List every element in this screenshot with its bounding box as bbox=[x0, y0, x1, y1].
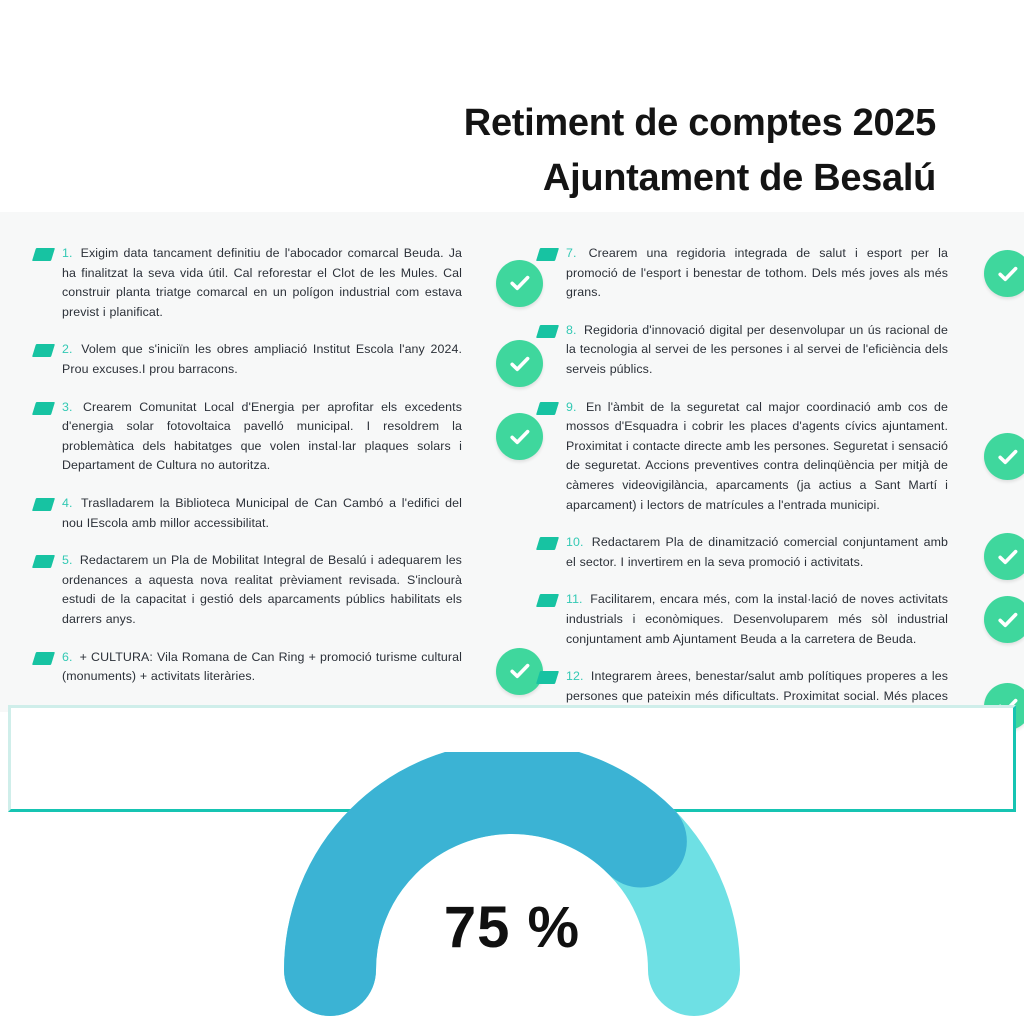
commitment-number: 9. bbox=[566, 400, 577, 414]
commitment-text: 3. Crearem Comunitat Local d'Energia per… bbox=[62, 398, 462, 476]
parallelogram-marker-icon bbox=[32, 652, 55, 665]
commitment-number: 2. bbox=[62, 342, 73, 356]
check-circle-icon bbox=[984, 250, 1024, 297]
page-header: Retiment de comptes 2025 Ajuntament de B… bbox=[0, 0, 1024, 212]
commitment-item: 1. Exigim data tancament definitiu de l'… bbox=[34, 244, 462, 322]
commitment-body-text: Volem que s'iniciïn les obres ampliació … bbox=[62, 342, 462, 376]
commitment-text: 9. En l'àmbit de la seguretat cal major … bbox=[566, 398, 948, 516]
commitment-text: 4. Traslladarem la Biblioteca Municipal … bbox=[62, 494, 462, 533]
parallelogram-marker-icon bbox=[32, 555, 55, 568]
parallelogram-marker-icon bbox=[536, 325, 559, 338]
check-circle-icon bbox=[984, 533, 1024, 580]
gauge-value-label: 75 % bbox=[284, 894, 740, 961]
commitment-body-text: Redactarem Pla de dinamització comercial… bbox=[566, 535, 948, 569]
commitment-item: 7. Crearem una regidoria integrada de sa… bbox=[538, 244, 948, 303]
parallelogram-marker-icon bbox=[32, 344, 55, 357]
commitment-item: 9. En l'àmbit de la seguretat cal major … bbox=[538, 398, 948, 516]
parallelogram-marker-icon bbox=[536, 671, 559, 684]
commitment-number: 5. bbox=[62, 553, 73, 567]
parallelogram-marker-icon bbox=[32, 498, 55, 511]
commitment-number: 4. bbox=[62, 496, 73, 510]
commitment-number: 3. bbox=[62, 400, 73, 414]
commitment-body-text: Crearem Comunitat Local d'Energia per ap… bbox=[62, 400, 462, 473]
commitment-body-text: En l'àmbit de la seguretat cal major coo… bbox=[566, 400, 948, 512]
commitment-number: 8. bbox=[566, 323, 577, 337]
check-circle-icon bbox=[984, 433, 1024, 480]
commitment-item: 6. + CULTURA: Vila Romana de Can Ring + … bbox=[34, 648, 462, 687]
page-title-line-1: Retiment de comptes 2025 bbox=[0, 96, 936, 151]
commitment-number: 6. bbox=[62, 650, 73, 664]
commitments-panel: 1. Exigim data tancament definitiu de l'… bbox=[0, 212, 1024, 712]
parallelogram-marker-icon bbox=[32, 248, 55, 261]
commitment-number: 10. bbox=[566, 535, 584, 549]
commitment-item: 10. Redactarem Pla de dinamització comer… bbox=[538, 533, 948, 572]
commitments-column-left: 1. Exigim data tancament definitiu de l'… bbox=[0, 212, 524, 712]
commitment-item: 8. Regidoria d'innovació digital per des… bbox=[538, 321, 948, 380]
parallelogram-marker-icon bbox=[536, 594, 559, 607]
commitment-text: 2. Volem que s'iniciïn les obres ampliac… bbox=[62, 340, 462, 379]
commitment-number: 12. bbox=[566, 669, 584, 683]
parallelogram-marker-icon bbox=[536, 248, 559, 261]
commitment-item: 4. Traslladarem la Biblioteca Municipal … bbox=[34, 494, 462, 533]
check-circle-icon bbox=[984, 596, 1024, 643]
commitment-item: 5. Redactarem un Pla de Mobilitat Integr… bbox=[34, 551, 462, 629]
commitment-body-text: Exigim data tancament definitiu de l'abo… bbox=[62, 246, 462, 319]
commitment-text: 8. Regidoria d'innovació digital per des… bbox=[566, 321, 948, 380]
commitment-text: 11. Facilitarem, encara més, com la inst… bbox=[566, 590, 948, 649]
commitment-text: 7. Crearem una regidoria integrada de sa… bbox=[566, 244, 948, 303]
commitment-number: 1. bbox=[62, 246, 73, 260]
page-title-line-2: Ajuntament de Besalú bbox=[0, 151, 936, 206]
commitment-text: 10. Redactarem Pla de dinamització comer… bbox=[566, 533, 948, 572]
commitment-item: 3. Crearem Comunitat Local d'Energia per… bbox=[34, 398, 462, 476]
commitment-number: 7. bbox=[566, 246, 577, 260]
commitment-body-text: Redactarem un Pla de Mobilitat Integral … bbox=[62, 553, 462, 626]
commitment-text: 6. + CULTURA: Vila Romana de Can Ring + … bbox=[62, 648, 462, 687]
parallelogram-marker-icon bbox=[536, 537, 559, 550]
commitment-body-text: Traslladarem la Biblioteca Municipal de … bbox=[62, 496, 462, 530]
parallelogram-marker-icon bbox=[536, 402, 559, 415]
commitment-number: 11. bbox=[566, 592, 583, 606]
commitment-body-text: Facilitarem, encara més, com la instal·l… bbox=[566, 592, 948, 645]
commitments-column-right: 7. Crearem una regidoria integrada de sa… bbox=[524, 212, 1024, 712]
commitment-item: 11. Facilitarem, encara més, com la inst… bbox=[538, 590, 948, 649]
page-title: Retiment de comptes 2025 Ajuntament de B… bbox=[0, 96, 936, 206]
commitment-text: 5. Redactarem un Pla de Mobilitat Integr… bbox=[62, 551, 462, 629]
commitment-body-text: + CULTURA: Vila Romana de Can Ring + pro… bbox=[62, 650, 462, 684]
commitment-item: 2. Volem que s'iniciïn les obres ampliac… bbox=[34, 340, 462, 379]
completion-gauge: 75 % bbox=[284, 752, 740, 1024]
commitment-body-text: Regidoria d'innovació digital per desenv… bbox=[566, 323, 948, 376]
commitment-body-text: Crearem una regidoria integrada de salut… bbox=[566, 246, 948, 299]
commitment-text: 1. Exigim data tancament definitiu de l'… bbox=[62, 244, 462, 322]
parallelogram-marker-icon bbox=[32, 402, 55, 415]
